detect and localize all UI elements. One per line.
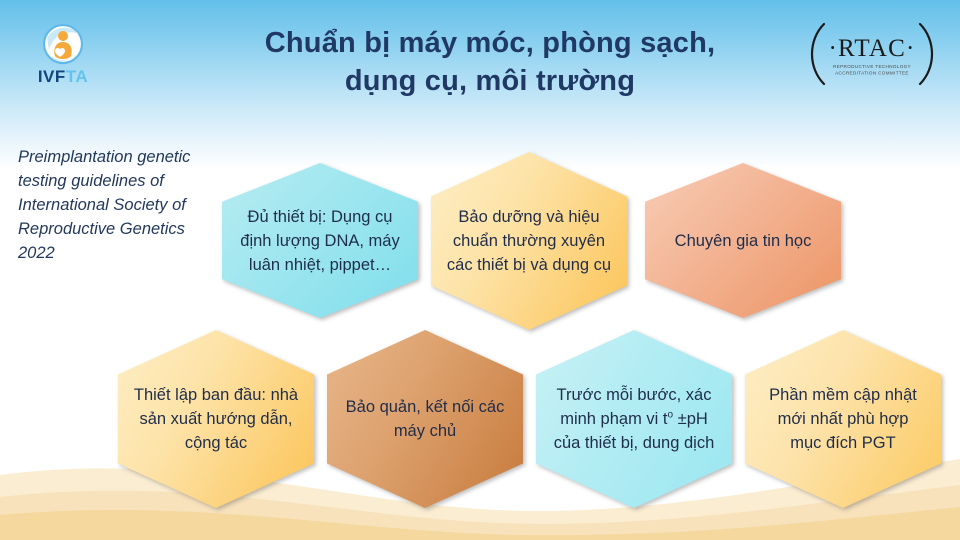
page-title-line1: Chuẩn bị máy móc, phòng sạch, <box>190 24 790 62</box>
hex-equipment[interactable]: Đủ thiết bị: Dụng cụ định lượng DNA, máy… <box>222 163 418 318</box>
hex-it-expert-label: Chuyên gia tin học <box>661 229 826 253</box>
ivfta-wordmark-primary: IVF <box>38 67 66 86</box>
hex-maintenance[interactable]: Bảo dưỡng và hiệu chuẩn thường xuyên các… <box>431 152 627 330</box>
hex-verify-range[interactable]: Trước mỗi bước, xác minh phạm vi to ±pH … <box>536 330 732 508</box>
rtac-subtitle-line2: ACCREDITATION COMMITTEE <box>835 71 909 76</box>
page-title: Chuẩn bị máy móc, phòng sạch, dụng cụ, m… <box>190 24 790 100</box>
ivfta-logo-wordmark: IVFTA <box>24 68 102 86</box>
hex-equipment-label: Đủ thiết bị: Dụng cụ định lượng DNA, máy… <box>238 205 403 277</box>
source-caption: Preimplantation genetic testing guidelin… <box>18 145 223 265</box>
ivfta-logo-mark <box>41 22 85 66</box>
page-title-line2: dụng cụ, môi trường <box>190 62 790 100</box>
hex-verify-range-label: Trước mỗi bước, xác minh phạm vi to ±pH … <box>552 383 717 455</box>
hex-software[interactable]: Phần mềm cập nhật mới nhất phù hợp mục đ… <box>745 330 941 508</box>
hex-initial-setup-label: Thiết lập ban đầu: nhà sản xuất hướng dẫ… <box>134 383 299 455</box>
hex-maintenance-label: Bảo dưỡng và hiệu chuẩn thường xuyên các… <box>447 205 612 277</box>
hex-software-label: Phần mềm cập nhật mới nhất phù hợp mục đ… <box>761 383 926 455</box>
slide-canvas: IVFTA ·RTAC· REPRODUCTIVE TECHNOLOGY ACC… <box>0 0 960 540</box>
svg-text:·RTAC·: ·RTAC· <box>828 35 915 62</box>
hex-storage-server-label: Bảo quản, kết nối các máy chủ <box>343 395 508 443</box>
rtac-logo: ·RTAC· REPRODUCTIVE TECHNOLOGY ACCREDITA… <box>802 18 942 90</box>
rtac-subtitle-line1: REPRODUCTIVE TECHNOLOGY <box>833 64 911 69</box>
ivfta-wordmark-secondary: TA <box>66 67 88 86</box>
hex-initial-setup[interactable]: Thiết lập ban đầu: nhà sản xuất hướng dẫ… <box>118 330 314 508</box>
ivfta-logo: IVFTA <box>24 22 102 90</box>
hex-it-expert[interactable]: Chuyên gia tin học <box>645 163 841 318</box>
hex-storage-server[interactable]: Bảo quản, kết nối các máy chủ <box>327 330 523 508</box>
